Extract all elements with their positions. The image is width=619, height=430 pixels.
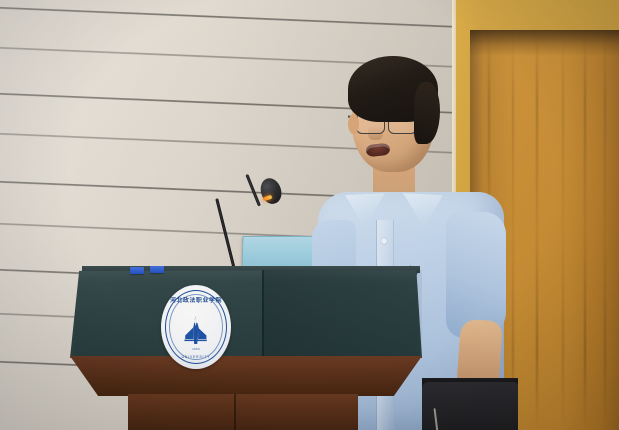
sail-logo-icon [181, 315, 211, 345]
emblem-year: 1953 [161, 347, 231, 351]
ear [348, 114, 359, 134]
university-emblem: 河北政法职业学院 1953 UNIVERSITY [161, 285, 231, 369]
emblem-english-text: UNIVERSITY [161, 355, 231, 359]
lectern-base [128, 394, 358, 430]
list-item[interactable] [130, 267, 144, 274]
hair-side [414, 82, 440, 144]
list-item[interactable] [150, 266, 164, 273]
lectern [70, 260, 422, 430]
lectern-wood-band [70, 356, 422, 396]
lectern-side-panel [262, 270, 422, 358]
photo-scene: 河北政法职业学院 1953 UNIVERSITY [0, 0, 619, 430]
emblem-chinese-text: 河北政法职业学院 [159, 296, 233, 304]
lectern-panel-seam [262, 270, 264, 358]
